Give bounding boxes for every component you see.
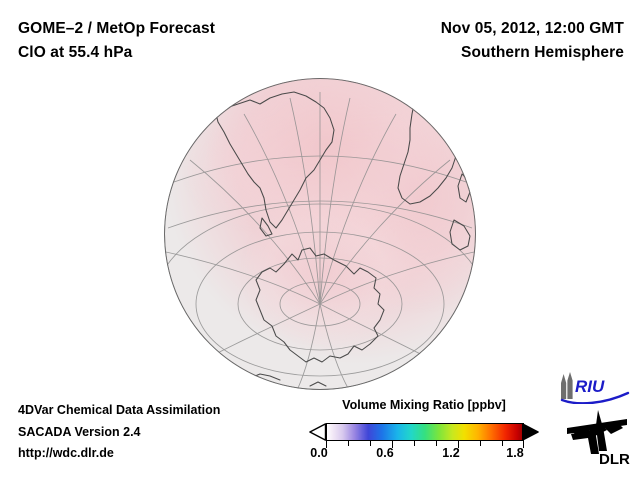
clo-field-overlay [164, 78, 476, 390]
colorbar-tick-minor [370, 441, 371, 446]
colorbar-tick-minor [436, 441, 437, 446]
coastline-madagascar [458, 174, 470, 202]
colorbar-tick-minor [502, 441, 503, 446]
footer-version: SACADA Version 2.4 [18, 422, 220, 444]
footer-url[interactable]: http://wdc.dlr.de [18, 443, 220, 465]
colorbar-tick-labels: 0.0 0.6 1.2 1.8 [300, 446, 532, 464]
dlr-logo: DLR [565, 408, 633, 468]
footer-method: 4DVar Chemical Data Assimilation [18, 400, 220, 422]
coastline-patagonia-tip [260, 218, 272, 236]
coastline-antarctica [256, 248, 384, 362]
coastlines [164, 78, 476, 390]
colorbar-body [308, 422, 540, 444]
header-right-block: Nov 05, 2012, 12:00 GMT Southern Hemisph… [441, 17, 624, 65]
riu-wordmark: RIU [575, 377, 605, 396]
colorbar-title: Volume Mixing Ratio [ppbv] [300, 398, 548, 412]
dlr-mark-icon [567, 410, 627, 454]
coastline-island-arc [250, 374, 280, 380]
figure-footer: 4DVar Chemical Data Assimilation SACADA … [18, 400, 220, 465]
colorbar-gradient [326, 423, 524, 441]
colorbar-label-1: 0.6 [376, 446, 393, 460]
coastline-island-small [310, 382, 326, 386]
colorbar-extend-min-icon [309, 423, 326, 441]
colorbar-extend-max-icon [522, 423, 539, 441]
colorbar-tick-minor [414, 441, 415, 446]
graticule [164, 78, 476, 390]
colorbar-label-2: 1.2 [442, 446, 459, 460]
colorbar-label-3: 1.8 [506, 446, 523, 460]
colorbar-tick-minor [348, 441, 349, 446]
coastline-south-america [216, 92, 334, 228]
coastline-africa [398, 94, 456, 204]
riu-towers-icon [561, 372, 573, 399]
instrument-title: GOME–2 / MetOp Forecast [18, 17, 215, 41]
figure-canvas: GOME–2 / MetOp Forecast ClO at 55.4 hPa … [0, 0, 640, 480]
hemisphere-label: Southern Hemisphere [441, 41, 624, 65]
figure-header: GOME–2 / MetOp Forecast ClO at 55.4 hPa … [0, 0, 640, 78]
timestamp-label: Nov 05, 2012, 12:00 GMT [441, 17, 624, 41]
globe-disc [164, 78, 476, 390]
globe-map [164, 78, 476, 390]
colorbar-tick-minor [480, 441, 481, 446]
dlr-wordmark: DLR [599, 451, 630, 468]
colorbar: Volume Mixing Ratio [ppbv] [300, 398, 548, 474]
coastline-australia [450, 220, 470, 250]
header-left-block: GOME–2 / MetOp Forecast ClO at 55.4 hPa [18, 17, 215, 65]
riu-logo: RIU [558, 372, 630, 404]
colorbar-label-0: 0.0 [310, 446, 327, 460]
species-level-title: ClO at 55.4 hPa [18, 41, 215, 65]
